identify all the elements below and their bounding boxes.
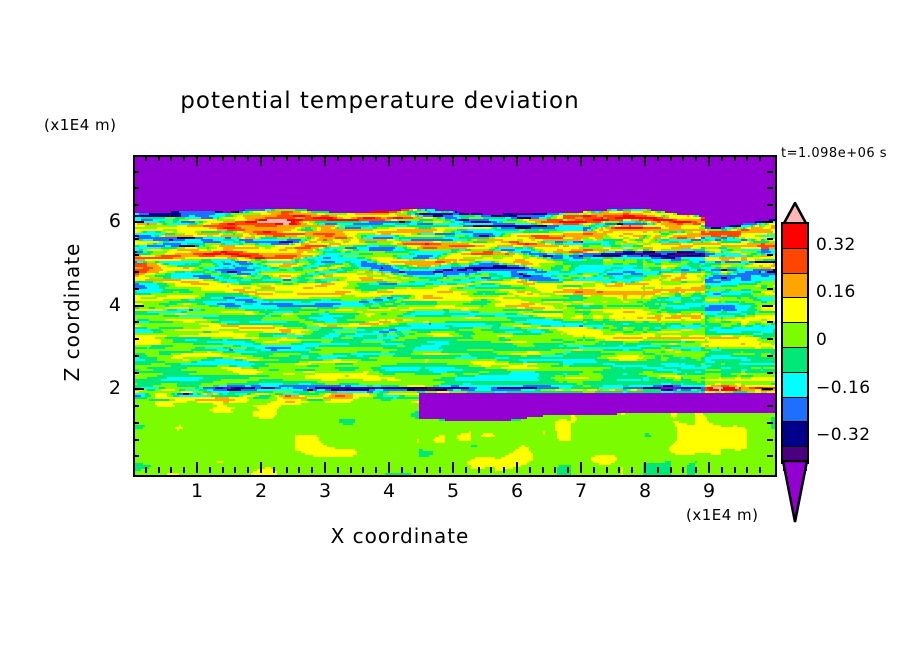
y-tick-right xyxy=(767,338,773,340)
x-tick-minor xyxy=(375,467,377,473)
x-tick-minor xyxy=(209,467,211,473)
x-tick-minor xyxy=(529,467,531,473)
colorbar-ticklabel: 0.16 xyxy=(816,282,856,302)
x-tick-minor xyxy=(721,467,723,473)
x-tick-top xyxy=(401,155,403,161)
x-tick-top xyxy=(337,155,339,161)
x-tick-top xyxy=(644,155,646,166)
y-ticklabel: 4 xyxy=(91,294,121,316)
x-tick-minor xyxy=(746,467,748,473)
x-tick-top xyxy=(350,155,352,161)
y-tick-right xyxy=(767,355,773,357)
y-tick-minor xyxy=(133,187,139,189)
page-title: potential temperature deviation xyxy=(0,88,760,114)
x-tick-major xyxy=(260,462,262,473)
contour-plot-area xyxy=(133,155,777,477)
x-tick-minor xyxy=(234,467,236,473)
colorbar-segment xyxy=(783,397,807,422)
x-tick-minor xyxy=(414,467,416,473)
x-ticklabel: 8 xyxy=(630,480,660,502)
colorbar-segment xyxy=(783,347,807,372)
y-tick-major xyxy=(133,221,144,223)
figure-canvas: potential temperature deviation (x1E4 m)… xyxy=(0,0,904,654)
y-tick-major xyxy=(133,305,144,307)
y-tick-right xyxy=(767,455,773,457)
y-tick-right xyxy=(767,439,773,441)
x-tick-minor xyxy=(170,467,172,473)
x-tick-top xyxy=(503,155,505,161)
x-tick-minor xyxy=(350,467,352,473)
y-axis-title: Z coordinate xyxy=(60,212,84,412)
x-axis-unit-label: (x1E4 m) xyxy=(686,506,759,524)
y-tick-minor xyxy=(133,171,139,173)
colorbar xyxy=(781,222,809,464)
x-tick-top xyxy=(516,155,518,166)
x-ticklabel: 7 xyxy=(566,480,596,502)
x-tick-minor xyxy=(362,467,364,473)
x-tick-top xyxy=(196,155,198,166)
x-tick-major xyxy=(196,462,198,473)
x-tick-top xyxy=(657,155,659,161)
colorbar-ticklabel: 0 xyxy=(816,330,827,350)
x-tick-top xyxy=(286,155,288,161)
x-tick-top xyxy=(593,155,595,161)
x-axis-title: X coordinate xyxy=(250,524,550,548)
y-tick-major xyxy=(133,388,144,390)
y-tick-minor xyxy=(133,372,139,374)
x-tick-major xyxy=(644,462,646,473)
y-tick-right xyxy=(767,238,773,240)
x-tick-minor xyxy=(183,467,185,473)
y-tick-minor xyxy=(133,355,139,357)
x-tick-top xyxy=(554,155,556,161)
colorbar-ticklabel: 0.32 xyxy=(816,235,856,255)
temperature-deviation-field xyxy=(135,157,775,475)
x-tick-minor xyxy=(286,467,288,473)
y-tick-minor xyxy=(133,288,139,290)
y-tick-right xyxy=(767,405,773,407)
y-ticklabel: 6 xyxy=(91,210,121,232)
y-tick-right xyxy=(767,372,773,374)
x-tick-top xyxy=(234,155,236,161)
y-tick-right xyxy=(767,171,773,173)
x-tick-top xyxy=(708,155,710,166)
x-tick-minor xyxy=(439,467,441,473)
x-tick-minor xyxy=(759,467,761,473)
colorbar-segment xyxy=(783,297,807,322)
y-tick-right xyxy=(767,321,773,323)
x-tick-major xyxy=(580,462,582,473)
x-tick-minor xyxy=(606,467,608,473)
y-tick-minor xyxy=(133,338,139,340)
colorbar-top-arrow xyxy=(781,202,809,224)
x-tick-top xyxy=(158,155,160,161)
y-tick-right xyxy=(767,288,773,290)
y-tick-minor xyxy=(133,321,139,323)
x-tick-minor xyxy=(542,467,544,473)
x-tick-top xyxy=(682,155,684,161)
x-tick-top xyxy=(542,155,544,161)
x-tick-minor xyxy=(631,467,633,473)
x-tick-top xyxy=(414,155,416,161)
x-tick-minor xyxy=(734,467,736,473)
x-tick-top xyxy=(695,155,697,161)
colorbar-segment xyxy=(783,322,807,347)
x-ticklabel: 3 xyxy=(310,480,340,502)
x-tick-top xyxy=(452,155,454,166)
colorbar-extend-down-icon xyxy=(781,460,809,524)
x-tick-minor xyxy=(695,467,697,473)
y-tick-minor xyxy=(133,271,139,273)
x-tick-minor xyxy=(426,467,428,473)
x-tick-top xyxy=(529,155,531,161)
x-tick-minor xyxy=(222,467,224,473)
y-tick-right xyxy=(767,254,773,256)
y-tick-right xyxy=(767,422,773,424)
x-tick-major xyxy=(452,462,454,473)
x-ticklabel: 9 xyxy=(694,480,724,502)
x-tick-top xyxy=(567,155,569,161)
x-ticklabel: 4 xyxy=(374,480,404,502)
x-tick-major xyxy=(388,462,390,473)
x-tick-minor xyxy=(554,467,556,473)
x-tick-top xyxy=(439,155,441,161)
x-tick-major xyxy=(324,462,326,473)
x-ticklabel: 2 xyxy=(246,480,276,502)
x-tick-top xyxy=(183,155,185,161)
y-tick-right xyxy=(767,204,773,206)
y-tick-right xyxy=(767,187,773,189)
x-tick-top xyxy=(388,155,390,166)
y-axis-unit-label: (x1E4 m) xyxy=(44,116,117,134)
y-tick-right xyxy=(762,221,773,223)
x-tick-top xyxy=(145,155,147,161)
x-tick-top xyxy=(170,155,172,161)
x-tick-top xyxy=(222,155,224,161)
x-tick-top xyxy=(465,155,467,161)
x-tick-minor xyxy=(158,467,160,473)
y-tick-right xyxy=(767,271,773,273)
x-tick-minor xyxy=(273,467,275,473)
x-tick-top xyxy=(324,155,326,166)
x-tick-top xyxy=(606,155,608,161)
x-tick-top xyxy=(362,155,364,161)
x-ticklabel: 6 xyxy=(502,480,532,502)
x-tick-top xyxy=(631,155,633,161)
y-ticklabel: 2 xyxy=(91,377,121,399)
y-tick-right xyxy=(762,388,773,390)
x-tick-top xyxy=(746,155,748,161)
y-tick-minor xyxy=(133,254,139,256)
y-tick-minor xyxy=(133,455,139,457)
x-tick-minor xyxy=(593,467,595,473)
x-tick-top xyxy=(670,155,672,161)
x-tick-minor xyxy=(490,467,492,473)
y-tick-minor xyxy=(133,439,139,441)
x-tick-minor xyxy=(311,467,313,473)
colorbar-segment xyxy=(783,421,807,446)
colorbar-segment xyxy=(783,224,807,248)
x-tick-minor xyxy=(247,467,249,473)
x-ticklabel: 1 xyxy=(182,480,212,502)
x-tick-minor xyxy=(657,467,659,473)
x-tick-top xyxy=(273,155,275,161)
x-tick-top xyxy=(260,155,262,166)
x-tick-minor xyxy=(618,467,620,473)
x-tick-minor xyxy=(465,467,467,473)
y-tick-minor xyxy=(133,405,139,407)
timestamp-label: t=1.098e+06 s xyxy=(781,146,887,161)
x-tick-top xyxy=(426,155,428,161)
x-tick-minor xyxy=(337,467,339,473)
y-tick-minor xyxy=(133,238,139,240)
colorbar-segment xyxy=(783,248,807,273)
y-tick-right xyxy=(762,305,773,307)
x-tick-minor xyxy=(670,467,672,473)
x-tick-top xyxy=(311,155,313,161)
x-tick-top xyxy=(298,155,300,161)
colorbar-segment xyxy=(783,372,807,397)
x-tick-top xyxy=(490,155,492,161)
x-tick-minor xyxy=(145,467,147,473)
x-tick-major xyxy=(708,462,710,473)
x-tick-top xyxy=(478,155,480,161)
x-tick-top xyxy=(580,155,582,166)
x-tick-major xyxy=(516,462,518,473)
y-tick-minor xyxy=(133,422,139,424)
x-tick-minor xyxy=(567,467,569,473)
x-tick-minor xyxy=(478,467,480,473)
x-tick-top xyxy=(721,155,723,161)
x-tick-top xyxy=(734,155,736,161)
x-tick-minor xyxy=(401,467,403,473)
colorbar-bottom-arrow xyxy=(781,460,809,522)
x-tick-minor xyxy=(298,467,300,473)
y-tick-minor xyxy=(133,204,139,206)
colorbar-ticklabel: −0.16 xyxy=(816,378,871,398)
x-tick-minor xyxy=(682,467,684,473)
x-tick-top xyxy=(375,155,377,161)
colorbar-ticklabel: −0.32 xyxy=(816,425,871,445)
colorbar-segment xyxy=(783,273,807,298)
x-tick-top xyxy=(618,155,620,161)
x-tick-top xyxy=(759,155,761,161)
x-tick-minor xyxy=(503,467,505,473)
x-ticklabel: 5 xyxy=(438,480,468,502)
x-tick-top xyxy=(247,155,249,161)
x-tick-top xyxy=(209,155,211,161)
